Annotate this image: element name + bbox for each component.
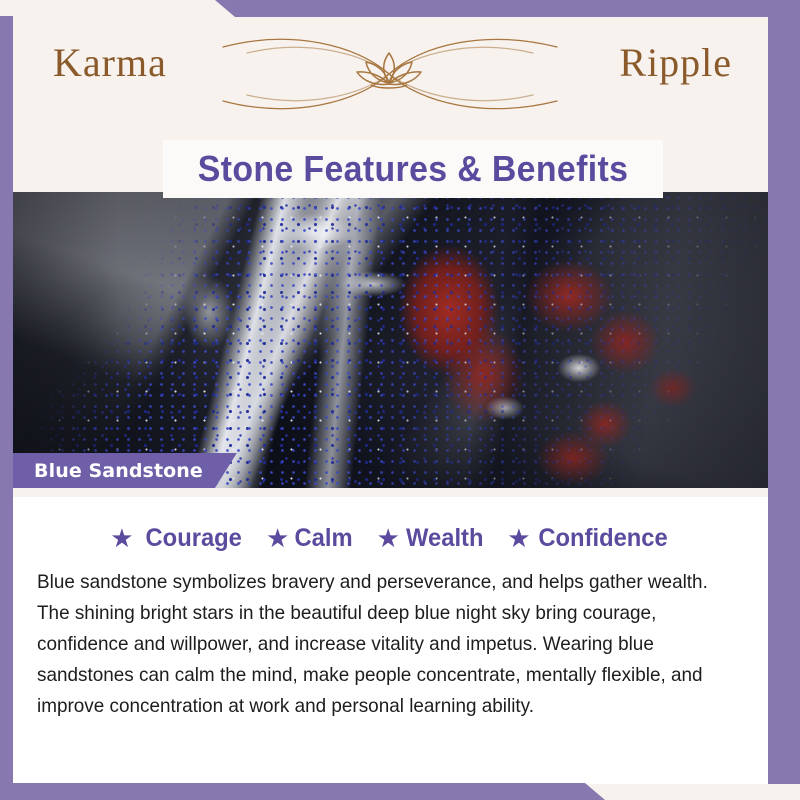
photo-caption-label: Blue Sandstone [34, 460, 203, 482]
title-plate: Stone Features & Benefits [163, 140, 663, 198]
benefit-label: Calm [295, 524, 353, 553]
frame-border-right [768, 0, 800, 784]
stone-photo: Blue Sandstone [13, 192, 768, 488]
benefit-label: Courage [145, 524, 241, 553]
brand-ornament [161, 31, 621, 117]
stone-features-infographic: Karma Ripple Blue Sandstone Stone Featur… [0, 0, 800, 800]
benefit-label: Confidence [538, 524, 667, 553]
benefits-row: ★ Courage ★ Calm ★ Wealth ★ Confidence [13, 497, 768, 553]
page-body: Karma Ripple Blue Sandstone Stone Featur… [13, 17, 768, 784]
benefit-item: ★ Calm [266, 524, 354, 553]
star-icon: ★ [507, 525, 530, 551]
page-title: Stone Features & Benefits [198, 148, 629, 190]
star-icon: ★ [266, 525, 289, 551]
frame-border-left [0, 16, 13, 800]
star-icon: ★ [110, 525, 133, 551]
stone-description: Blue sandstone symbolizes bravery and pe… [37, 567, 723, 722]
frame-border-bottom [0, 783, 800, 800]
star-icon: ★ [376, 525, 399, 551]
benefit-item: ★ Wealth [376, 524, 485, 553]
photo-caption-tag: Blue Sandstone [13, 453, 237, 488]
benefit-item: ★ Courage [110, 524, 244, 553]
frame-border-top [0, 0, 800, 17]
content-card: ★ Courage ★ Calm ★ Wealth ★ Confidence B… [13, 497, 768, 784]
benefit-label: Wealth [406, 524, 483, 553]
brand-name-left: Karma [53, 39, 167, 86]
photo-vignette [13, 192, 768, 488]
brand-name-right: Ripple [619, 39, 732, 86]
benefit-item: ★ Confidence [507, 524, 670, 553]
brand-header: Karma Ripple [13, 17, 768, 129]
